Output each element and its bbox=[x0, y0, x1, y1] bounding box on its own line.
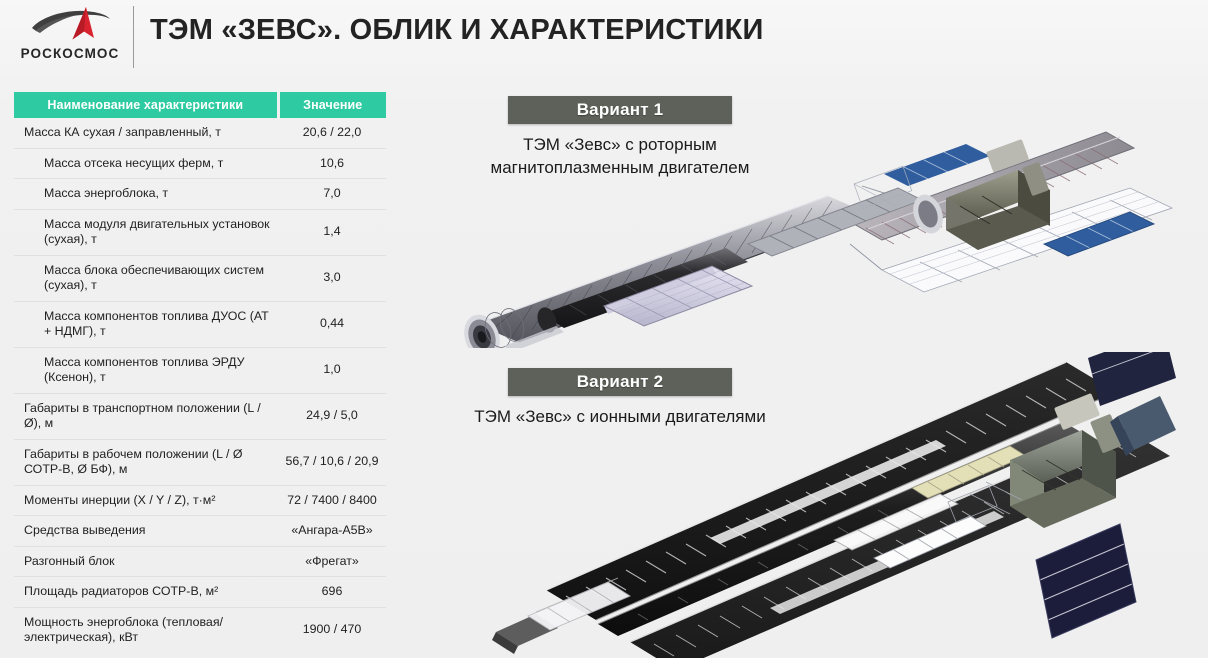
table-row: Площадь радиаторов СОТР-В, м²696 bbox=[14, 577, 386, 608]
variant-2-caption: ТЭМ «Зевс» с ионными двигателями bbox=[470, 406, 770, 429]
row-label: Масса отсека несущих ферм, т bbox=[14, 148, 278, 179]
row-value: 7,0 bbox=[278, 179, 386, 210]
row-label: Разгонный блок bbox=[14, 546, 278, 577]
table-row: Масса модуля двигательных установок (сух… bbox=[14, 209, 386, 255]
row-label: Масса компонентов топлива ДУОС (АТ + НДМ… bbox=[14, 301, 278, 347]
row-value: 3,0 bbox=[278, 255, 386, 301]
row-value: 1,0 bbox=[278, 347, 386, 393]
page-title: ТЭМ «ЗЕВС». ОБЛИК И ХАРАКТЕРИСТИКИ bbox=[150, 14, 764, 47]
slide-header: РОСКОСМОС ТЭМ «ЗЕВС». ОБЛИК И ХАРАКТЕРИС… bbox=[0, 0, 1208, 84]
table-row: Мощность энергоблока (тепловая/электриче… bbox=[14, 607, 386, 653]
row-value: 20,6 / 22,0 bbox=[278, 118, 386, 148]
row-value: 0,44 bbox=[278, 301, 386, 347]
column-header-name: Наименование характеристики bbox=[14, 92, 278, 118]
variant-2-badge: Вариант 2 bbox=[508, 368, 732, 396]
slide-root: РОСКОСМОС ТЭМ «ЗЕВС». ОБЛИК И ХАРАКТЕРИС… bbox=[0, 0, 1208, 658]
row-label: Моменты инерции (X / Y / Z), т·м² bbox=[14, 485, 278, 516]
row-value: 1,4 bbox=[278, 209, 386, 255]
roscosmos-arrow-icon bbox=[14, 4, 126, 46]
table-row: Масса компонентов топлива ДУОС (АТ + НДМ… bbox=[14, 301, 386, 347]
table-row: Моменты инерции (X / Y / Z), т·м²72 / 74… bbox=[14, 485, 386, 516]
row-value: «Фрегат» bbox=[278, 546, 386, 577]
roscosmos-logo: РОСКОСМОС bbox=[14, 4, 126, 70]
variant-1-caption: ТЭМ «Зевс» с роторным магнитоплазменным … bbox=[470, 134, 770, 179]
row-label: Площадь радиаторов СОТР-В, м² bbox=[14, 577, 278, 608]
spacecraft-illustration-variant-1 bbox=[430, 48, 1208, 348]
roscosmos-wordmark: РОСКОСМОС bbox=[14, 46, 126, 61]
row-label: Средства выведения bbox=[14, 516, 278, 547]
row-value: 56,7 / 10,6 / 20,9 bbox=[278, 439, 386, 485]
row-label: Масса КА сухая / заправленный, т bbox=[14, 118, 278, 148]
row-label: Масса блока обеспечивающих систем (сухая… bbox=[14, 255, 278, 301]
row-label: Масса энергоблока, т bbox=[14, 179, 278, 210]
specifications-table: Наименование характеристики Значение Мас… bbox=[14, 92, 386, 653]
table-row: Разгонный блок«Фрегат» bbox=[14, 546, 386, 577]
row-label: Габариты в рабочем положении (L / Ø СОТР… bbox=[14, 439, 278, 485]
row-value: 72 / 7400 / 8400 bbox=[278, 485, 386, 516]
column-header-value: Значение bbox=[278, 92, 386, 118]
table-row: Габариты в транспортном положении (L / Ø… bbox=[14, 393, 386, 439]
spacecraft-illustration-variant-2 bbox=[470, 352, 1208, 658]
row-value: «Ангара-А5В» bbox=[278, 516, 386, 547]
table-row: Средства выведения«Ангара-А5В» bbox=[14, 516, 386, 547]
table-row: Масса блока обеспечивающих систем (сухая… bbox=[14, 255, 386, 301]
header-divider bbox=[133, 6, 134, 68]
table-header-row: Наименование характеристики Значение bbox=[14, 92, 386, 118]
table-body: Масса КА сухая / заправленный, т20,6 / 2… bbox=[14, 118, 386, 653]
table-row: Масса компонентов топлива ЭРДУ (Ксенон),… bbox=[14, 347, 386, 393]
row-label: Масса компонентов топлива ЭРДУ (Ксенон),… bbox=[14, 347, 278, 393]
row-value: 24,9 / 5,0 bbox=[278, 393, 386, 439]
variant-1-badge: Вариант 1 bbox=[508, 96, 732, 124]
row-label: Масса модуля двигательных установок (сух… bbox=[14, 209, 278, 255]
table-row: Масса энергоблока, т7,0 bbox=[14, 179, 386, 210]
row-label: Габариты в транспортном положении (L / Ø… bbox=[14, 393, 278, 439]
table-row: Габариты в рабочем положении (L / Ø СОТР… bbox=[14, 439, 386, 485]
row-value: 10,6 bbox=[278, 148, 386, 179]
row-value: 696 bbox=[278, 577, 386, 608]
row-value: 1900 / 470 bbox=[278, 607, 386, 653]
row-label: Мощность энергоблока (тепловая/электриче… bbox=[14, 607, 278, 653]
table-row: Масса отсека несущих ферм, т10,6 bbox=[14, 148, 386, 179]
table-row: Масса КА сухая / заправленный, т20,6 / 2… bbox=[14, 118, 386, 148]
